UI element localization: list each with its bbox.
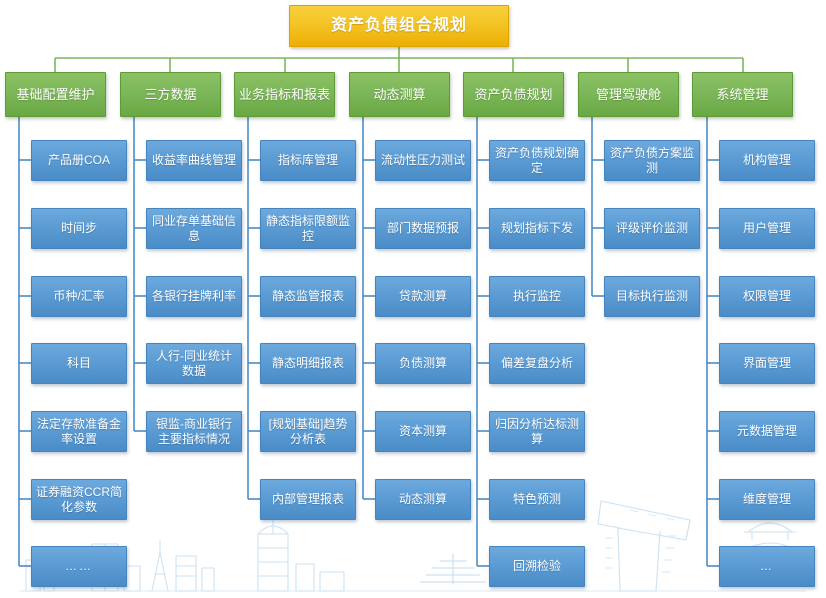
- category-node-label: 业务指标和报表: [239, 87, 330, 102]
- item-node-label: 各银行挂牌利率: [152, 289, 236, 303]
- item-node[interactable]: 资产负债方案监测: [604, 140, 700, 181]
- item-node[interactable]: 人行-同业统计数据: [146, 343, 242, 384]
- item-node[interactable]: 同业存单基础信息: [146, 208, 242, 249]
- item-node-label: 维度管理: [743, 492, 791, 506]
- item-node-label: 贷款测算: [399, 289, 447, 303]
- category-node-basic-config[interactable]: 基础配置维护: [5, 72, 106, 117]
- item-node[interactable]: 权限管理: [719, 276, 815, 317]
- category-node-label: 基础配置维护: [16, 87, 94, 102]
- item-node[interactable]: 特色预测: [489, 479, 585, 520]
- category-node-label: 管理驾驶舱: [596, 87, 661, 102]
- item-node-label: 目标执行监测: [616, 289, 688, 303]
- item-node[interactable]: 各银行挂牌利率: [146, 276, 242, 317]
- item-node-label: 负债测算: [399, 356, 447, 370]
- item-node[interactable]: 静态指标限额监控: [260, 208, 356, 249]
- item-node[interactable]: 产品册COA: [31, 140, 127, 181]
- item-node-label: 币种/汇率: [53, 289, 104, 303]
- category-node-management-cockpit[interactable]: 管理驾驶舱: [578, 72, 679, 117]
- item-node-label: 用户管理: [743, 221, 791, 235]
- item-node-label: 指标库管理: [278, 153, 338, 167]
- category-node-business-metrics-reports[interactable]: 业务指标和报表: [234, 72, 335, 117]
- item-node-label: 部门数据预报: [387, 221, 459, 235]
- item-node-label: 资产负债规划确定: [494, 146, 580, 174]
- item-node-more[interactable]: ……: [31, 546, 127, 587]
- item-node-label: 收益率曲线管理: [152, 153, 236, 167]
- item-node-label: 执行监控: [513, 289, 561, 303]
- item-node-label: 人行-同业统计数据: [151, 349, 237, 377]
- item-node-label: …: [760, 559, 774, 573]
- item-node[interactable]: 规划指标下发: [489, 208, 585, 249]
- item-node[interactable]: 机构管理: [719, 140, 815, 181]
- item-node[interactable]: 内部管理报表: [260, 479, 356, 520]
- item-node[interactable]: 偏差复盘分析: [489, 343, 585, 384]
- item-node[interactable]: 维度管理: [719, 479, 815, 520]
- org-chart-canvas: 资产负债组合规划 基础配置维护 产品册COA 时间步 币种/汇率 科目 法定存款…: [0, 0, 826, 598]
- item-node-label: 证券融资CCR简化参数: [36, 485, 122, 513]
- item-node-label: 流动性压力测试: [381, 153, 465, 167]
- category-node-label: 动态测算: [373, 87, 425, 102]
- item-node-label: 法定存款准备金率设置: [36, 417, 122, 445]
- item-node-more[interactable]: …: [719, 546, 815, 587]
- category-node-system-management[interactable]: 系统管理: [692, 72, 793, 117]
- category-node-label: 系统管理: [716, 87, 768, 102]
- item-node-label: 权限管理: [743, 289, 791, 303]
- category-node-third-party-data[interactable]: 三方数据: [120, 72, 221, 117]
- item-node[interactable]: 目标执行监测: [604, 276, 700, 317]
- item-node-label: 回溯检验: [513, 559, 561, 573]
- item-node[interactable]: 法定存款准备金率设置: [31, 411, 127, 452]
- item-node[interactable]: 评级评价监测: [604, 208, 700, 249]
- item-node[interactable]: 用户管理: [719, 208, 815, 249]
- item-node[interactable]: 科目: [31, 343, 127, 384]
- category-node-alm-planning[interactable]: 资产负债规划: [463, 72, 564, 117]
- item-node[interactable]: 界面管理: [719, 343, 815, 384]
- item-node[interactable]: 部门数据预报: [375, 208, 471, 249]
- item-node[interactable]: 银监-商业银行主要指标情况: [146, 411, 242, 452]
- item-node[interactable]: [规划基础]趋势分析表: [260, 411, 356, 452]
- item-node-label: 资本测算: [399, 424, 447, 438]
- item-node-label: 归因分析达标测算: [494, 417, 580, 445]
- item-node-label: ……: [65, 559, 93, 573]
- item-node[interactable]: 负债测算: [375, 343, 471, 384]
- item-node-label: 科目: [67, 356, 91, 370]
- item-node[interactable]: 元数据管理: [719, 411, 815, 452]
- item-node-label: 静态指标限额监控: [265, 214, 351, 242]
- root-node-label: 资产负债组合规划: [331, 17, 467, 36]
- item-node[interactable]: 证券融资CCR简化参数: [31, 479, 127, 520]
- item-node[interactable]: 流动性压力测试: [375, 140, 471, 181]
- item-node-label: 资产负债方案监测: [609, 146, 695, 174]
- item-node-label: 偏差复盘分析: [501, 356, 573, 370]
- item-node-label: 评级评价监测: [616, 221, 688, 235]
- item-node-label: 机构管理: [743, 153, 791, 167]
- item-node-label: 特色预测: [513, 492, 561, 506]
- item-node-label: 静态监管报表: [272, 289, 344, 303]
- item-node-label: 动态测算: [399, 492, 447, 506]
- item-node[interactable]: 回溯检验: [489, 546, 585, 587]
- item-node-label: 内部管理报表: [272, 492, 344, 506]
- item-node-label: 规划指标下发: [501, 221, 573, 235]
- category-node-label: 资产负债规划: [474, 87, 552, 102]
- item-node[interactable]: 静态明细报表: [260, 343, 356, 384]
- category-node-label: 三方数据: [144, 87, 196, 102]
- item-node-label: [规划基础]趋势分析表: [265, 417, 351, 445]
- item-node[interactable]: 执行监控: [489, 276, 585, 317]
- item-node[interactable]: 时间步: [31, 208, 127, 249]
- item-node[interactable]: 资本测算: [375, 411, 471, 452]
- category-node-dynamic-calculation[interactable]: 动态测算: [349, 72, 450, 117]
- item-node[interactable]: 贷款测算: [375, 276, 471, 317]
- root-node[interactable]: 资产负债组合规划: [289, 5, 509, 47]
- item-node-label: 静态明细报表: [272, 356, 344, 370]
- item-node-label: 同业存单基础信息: [151, 214, 237, 242]
- item-node[interactable]: 指标库管理: [260, 140, 356, 181]
- item-node[interactable]: 归因分析达标测算: [489, 411, 585, 452]
- item-node[interactable]: 静态监管报表: [260, 276, 356, 317]
- item-node-label: 界面管理: [743, 356, 791, 370]
- item-node[interactable]: 资产负债规划确定: [489, 140, 585, 181]
- item-node[interactable]: 动态测算: [375, 479, 471, 520]
- item-node-label: 产品册COA: [48, 153, 110, 167]
- item-node-label: 元数据管理: [737, 424, 797, 438]
- item-node[interactable]: 币种/汇率: [31, 276, 127, 317]
- item-node-label: 银监-商业银行主要指标情况: [151, 417, 237, 445]
- item-node-label: 时间步: [61, 221, 97, 235]
- item-node[interactable]: 收益率曲线管理: [146, 140, 242, 181]
